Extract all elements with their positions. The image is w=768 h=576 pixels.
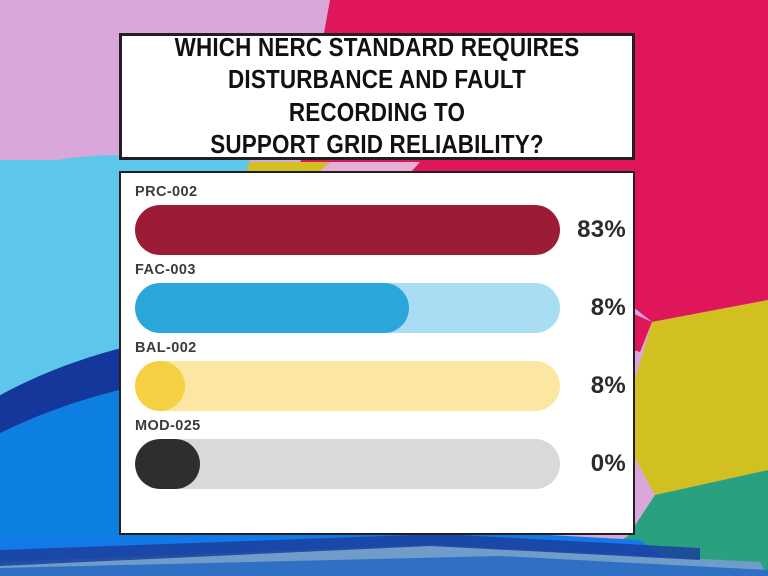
- poll-options-list: PRC-002 83% FAC-003 8% BAL-0: [135, 185, 621, 489]
- poll-option-row[interactable]: PRC-002 83%: [135, 185, 621, 255]
- question-title-card: WHICH NERC STANDARD REQUIRES DISTURBANCE…: [119, 33, 635, 160]
- poll-bar-fill: [135, 439, 200, 489]
- poll-option-bar-line: 0%: [135, 439, 621, 489]
- poll-bar-fill: [135, 283, 409, 333]
- poll-option-row[interactable]: BAL-002 8%: [135, 341, 621, 411]
- poll-option-label: FAC-003: [135, 263, 621, 279]
- poll-option-row[interactable]: MOD-025 0%: [135, 419, 621, 489]
- poll-results-card: PRC-002 83% FAC-003 8% BAL-0: [119, 171, 635, 535]
- poll-option-bar-line: 83%: [135, 205, 621, 255]
- poll-bar-fill: [135, 361, 185, 411]
- poll-option-label: BAL-002: [135, 341, 621, 357]
- poll-bar-fill: [135, 205, 560, 255]
- poll-option-bar-line: 8%: [135, 283, 621, 333]
- poll-bar-track: [135, 439, 560, 489]
- poll-option-row[interactable]: FAC-003 8%: [135, 263, 621, 333]
- poll-option-label: MOD-025: [135, 419, 621, 435]
- poll-option-label: PRC-002: [135, 185, 621, 201]
- poll-option-bar-line: 8%: [135, 361, 621, 411]
- page-title: WHICH NERC STANDARD REQUIRES DISTURBANCE…: [153, 32, 602, 161]
- poll-bar-track: [135, 361, 560, 411]
- poll-option-percent: 83%: [560, 216, 632, 244]
- poll-graphic: WHICH NERC STANDARD REQUIRES DISTURBANCE…: [0, 0, 768, 576]
- poll-bar-track: [135, 205, 560, 255]
- poll-option-percent: 8%: [560, 372, 632, 400]
- poll-option-percent: 0%: [560, 450, 632, 478]
- poll-bar-track: [135, 283, 560, 333]
- poll-option-percent: 8%: [560, 294, 632, 322]
